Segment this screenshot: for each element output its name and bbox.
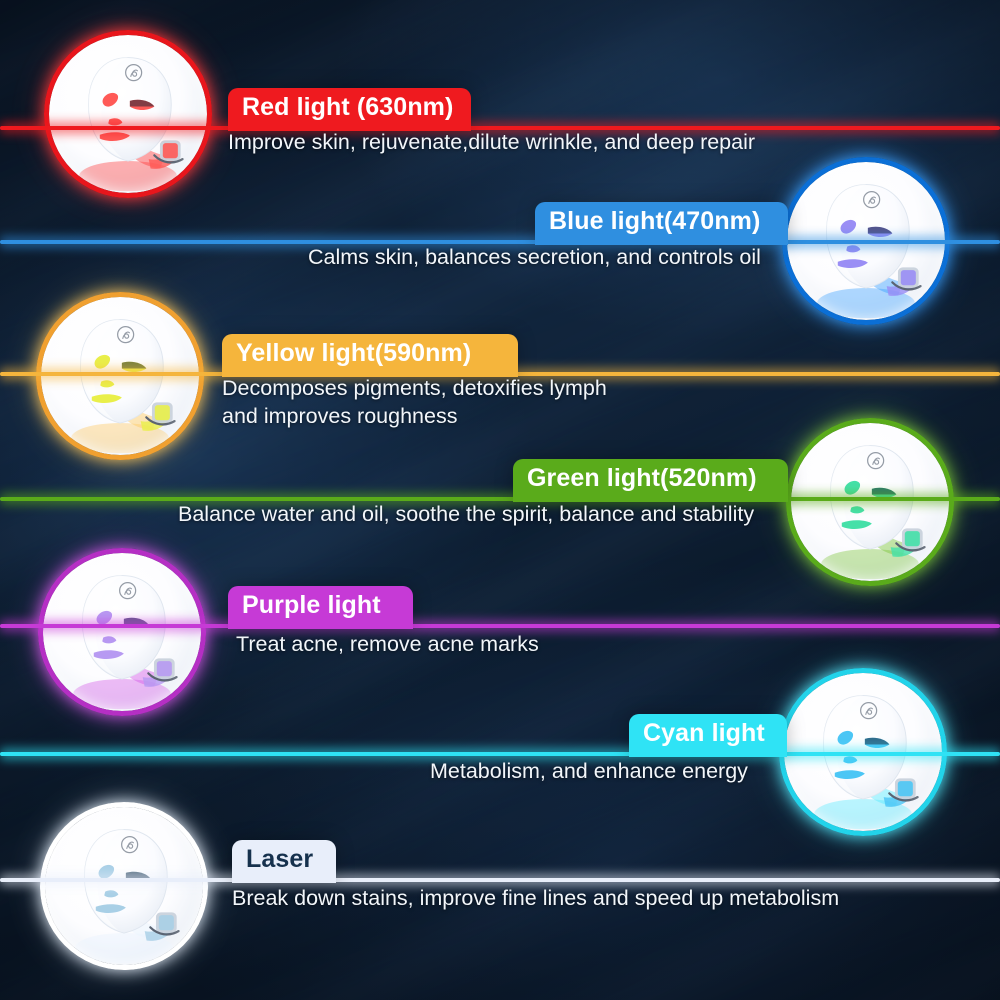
light-label-text-laser: Laser xyxy=(246,845,313,873)
divider-rule-purple xyxy=(0,624,1000,628)
mask-ring-purple xyxy=(38,548,206,716)
light-label-text-yellow: Yellow light(590nm) xyxy=(236,339,471,367)
mask-thumbnail-purple[interactable] xyxy=(38,548,206,716)
light-description-laser: Break down stains, improve fine lines an… xyxy=(232,884,839,912)
light-label-blue[interactable]: Blue light(470nm) xyxy=(535,202,788,245)
light-description-yellow: Decomposes pigments, detoxifies lymph an… xyxy=(222,374,607,431)
light-label-laser[interactable]: Laser xyxy=(232,840,336,883)
mask-ring-red xyxy=(44,30,212,198)
mask-thumbnail-laser[interactable] xyxy=(40,802,208,970)
light-label-text-green: Green light(520nm) xyxy=(527,464,757,492)
light-description-green: Balance water and oil, soothe the spirit… xyxy=(178,500,754,528)
divider-rule-cyan xyxy=(0,752,1000,756)
light-label-text-blue: Blue light(470nm) xyxy=(549,207,760,235)
light-label-purple[interactable]: Purple light xyxy=(228,586,413,629)
light-label-yellow[interactable]: Yellow light(590nm) xyxy=(222,334,518,377)
infographic-canvas: Red light (630nm) Improve skin, rejuvena… xyxy=(0,0,1000,1000)
light-label-text-cyan: Cyan light xyxy=(643,719,765,747)
light-description-blue: Calms skin, balances secretion, and cont… xyxy=(308,243,761,271)
mask-ring-laser xyxy=(40,802,208,970)
light-label-cyan[interactable]: Cyan light xyxy=(629,714,787,757)
light-description-cyan: Metabolism, and enhance energy xyxy=(430,757,748,785)
light-label-text-red: Red light (630nm) xyxy=(242,93,453,121)
divider-rule-laser xyxy=(0,878,1000,882)
light-label-text-purple: Purple light xyxy=(242,591,381,619)
light-label-red[interactable]: Red light (630nm) xyxy=(228,88,471,131)
light-label-green[interactable]: Green light(520nm) xyxy=(513,459,788,502)
light-description-purple: Treat acne, remove acne marks xyxy=(236,630,539,658)
light-description-red: Improve skin, rejuvenate,dilute wrinkle,… xyxy=(228,128,755,156)
mask-thumbnail-red[interactable] xyxy=(44,30,212,198)
